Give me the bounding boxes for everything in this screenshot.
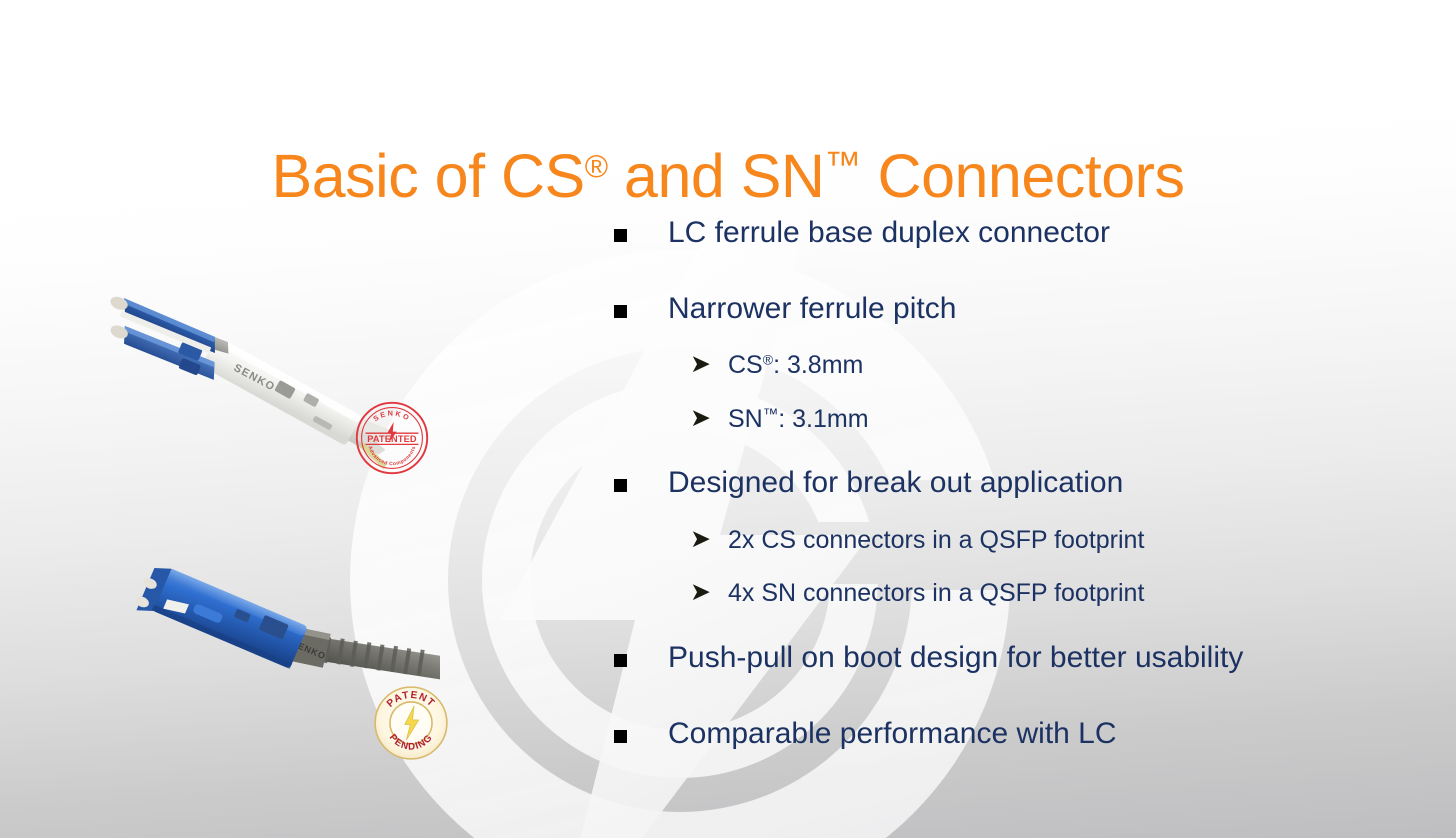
svg-text:Advanced Components: Advanced Components [367, 445, 418, 467]
square-bullet-icon [614, 229, 627, 242]
sub-bullet-cs-pitch: ➤ CS®: 3.8mm [600, 351, 1400, 380]
spacer [600, 675, 1400, 717]
bullet-item-push-pull: Push-pull on boot design for better usab… [600, 641, 1400, 675]
bullet-text: Narrower ferrule pitch [668, 292, 956, 325]
sub-bullet-2x-cs: ➤ 2x CS connectors in a QSFP footprint [600, 526, 1400, 555]
bullet-item-comparable-performance: Comparable performance with LC [600, 717, 1400, 751]
sub-bullet-text-pre: CS [728, 351, 763, 379]
bullet-text: Designed for break out application [668, 466, 1123, 499]
square-bullet-icon [614, 305, 627, 318]
registered-mark: ® [763, 352, 773, 368]
bullet-text: Comparable performance with LC [668, 717, 1117, 750]
svg-text:PATENTED: PATENTED [367, 434, 417, 444]
spacer [600, 433, 1400, 466]
spacer [600, 326, 1400, 351]
bullet-item-lc-ferrule: LC ferrule base duplex connector [600, 216, 1400, 250]
senko-patented-seal: SENKO Advanced Components PATENTED [352, 398, 432, 478]
bullet-text: LC ferrule base duplex connector [668, 216, 1110, 249]
trademark-mark: ™ [825, 144, 862, 185]
square-bullet-icon [614, 654, 627, 667]
title-part-2: and SN [608, 142, 825, 210]
patent-pending-seal: PATENT PENDING [372, 684, 450, 762]
bullet-list: LC ferrule base duplex connector Narrowe… [600, 216, 1400, 751]
title-part-3: Connectors [861, 142, 1184, 210]
title-part-1: Basic of CS [272, 142, 585, 210]
svg-text:SENKO: SENKO [232, 362, 277, 394]
slide-title: Basic of CS® and SN™ Connectors [0, 144, 1456, 208]
slide-canvas: SENKO [0, 0, 1456, 838]
svg-text:SENKO: SENKO [290, 638, 327, 661]
spacer [600, 250, 1400, 292]
sub-bullet-sn-pitch: ➤ SN™: 3.1mm [600, 405, 1400, 434]
sub-bullet-text-post: : 3.8mm [773, 351, 863, 379]
spacer [600, 608, 1400, 641]
arrow-bullet-icon: ➤ [690, 525, 711, 554]
bullet-item-break-out: Designed for break out application [600, 466, 1400, 500]
sub-bullet-text-pre: SN [728, 405, 763, 433]
arrow-bullet-icon: ➤ [690, 404, 711, 433]
trademark-mark: ™ [763, 406, 779, 423]
bullet-text: Push-pull on boot design for better usab… [668, 641, 1243, 674]
sub-bullet-text: 4x SN connectors in a QSFP footprint [728, 579, 1144, 607]
spacer [600, 501, 1400, 526]
registered-mark: ® [585, 148, 608, 184]
sub-bullet-4x-sn: ➤ 4x SN connectors in a QSFP footprint [600, 579, 1400, 608]
square-bullet-icon [614, 479, 627, 492]
arrow-bullet-icon: ➤ [690, 350, 711, 379]
sub-bullet-text: 2x CS connectors in a QSFP footprint [728, 526, 1144, 554]
spacer [600, 554, 1400, 579]
sub-bullet-text-post: : 3.1mm [778, 405, 868, 433]
arrow-bullet-icon: ➤ [690, 578, 711, 607]
square-bullet-icon [614, 730, 627, 743]
cs-duplex-connector-photo: SENKO [75, 255, 395, 520]
spacer [600, 380, 1400, 405]
bullet-item-narrower-pitch: Narrower ferrule pitch [600, 292, 1400, 326]
